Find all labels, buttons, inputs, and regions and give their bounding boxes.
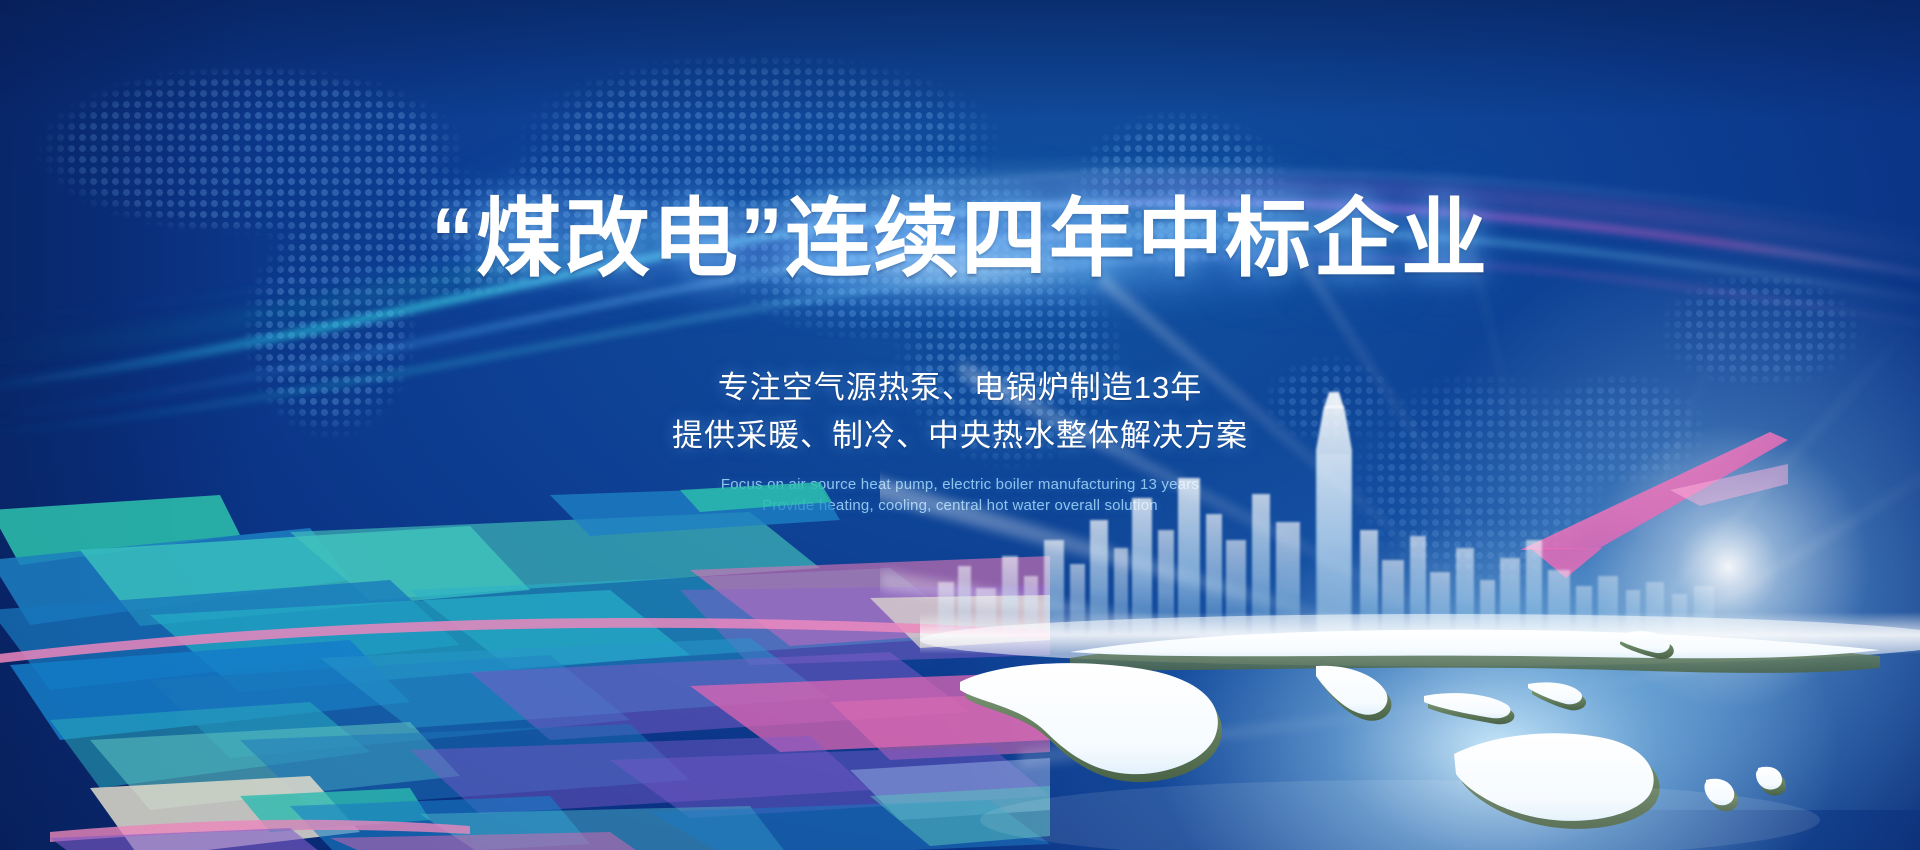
polygon-facet-field xyxy=(0,440,1050,850)
city-and-globe xyxy=(920,390,1920,850)
promotional-banner: “煤改电”连续四年中标企业 专注空气源热泵、电锅炉制造13年 提供采暖、制冷、中… xyxy=(0,0,1920,850)
banner-title: “煤改电”连续四年中标企业 xyxy=(0,196,1920,282)
glass-city-skyline xyxy=(938,392,1714,634)
